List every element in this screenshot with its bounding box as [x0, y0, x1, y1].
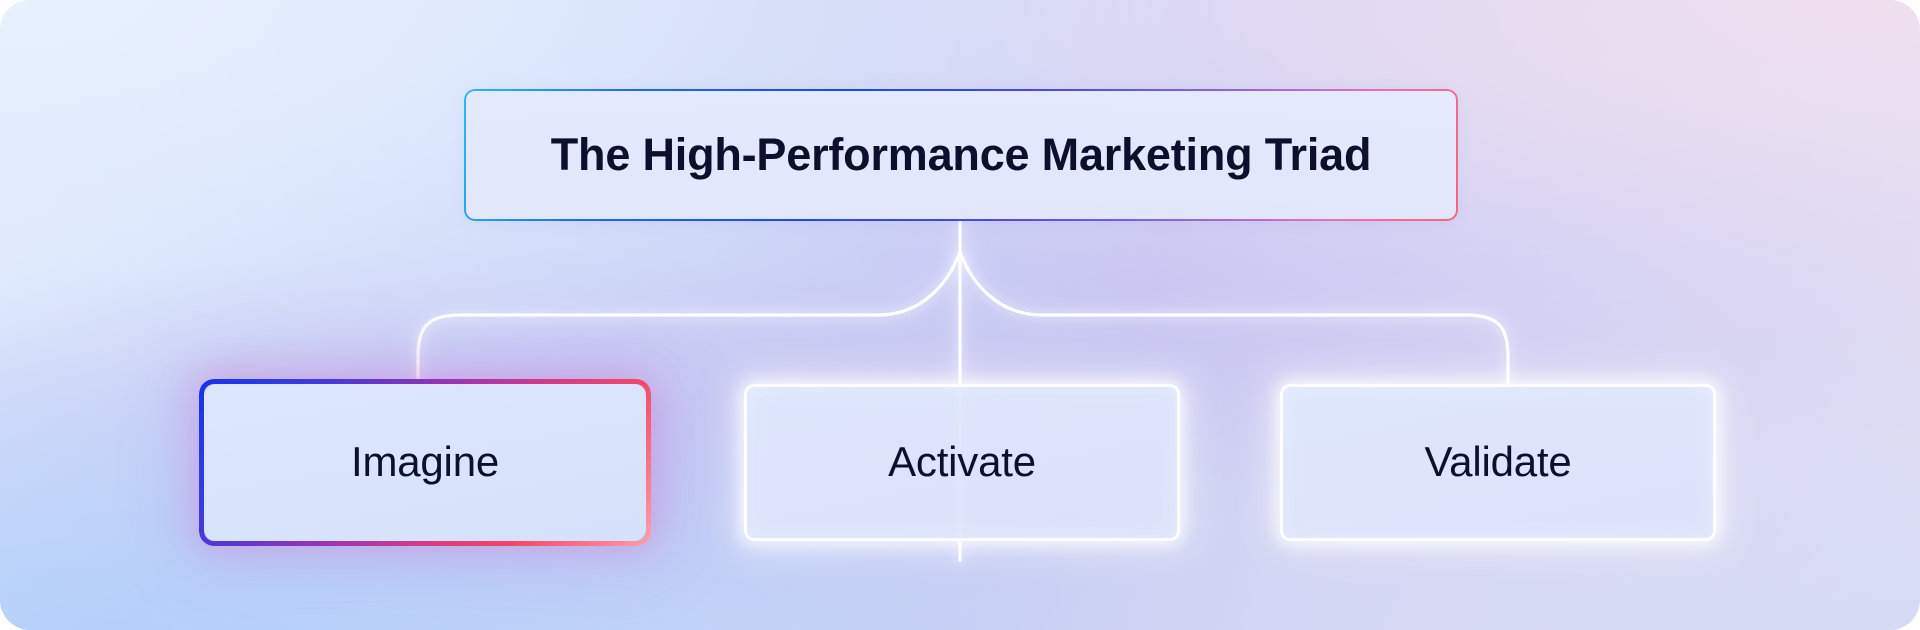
- connector-right: [960, 252, 1508, 386]
- node-title-label: The High-Performance Marketing Triad: [551, 130, 1371, 180]
- node-activate[interactable]: Activate: [744, 384, 1180, 541]
- node-activate-label: Activate: [888, 439, 1036, 485]
- node-imagine[interactable]: Imagine: [204, 384, 646, 541]
- diagram-canvas: The High-Performance Marketing Triad Ima…: [0, 0, 1920, 630]
- node-validate[interactable]: Validate: [1280, 384, 1716, 541]
- node-title[interactable]: The High-Performance Marketing Triad: [466, 91, 1456, 219]
- node-imagine-label: Imagine: [351, 439, 499, 485]
- node-validate-label: Validate: [1424, 439, 1571, 485]
- connector-left: [418, 252, 960, 386]
